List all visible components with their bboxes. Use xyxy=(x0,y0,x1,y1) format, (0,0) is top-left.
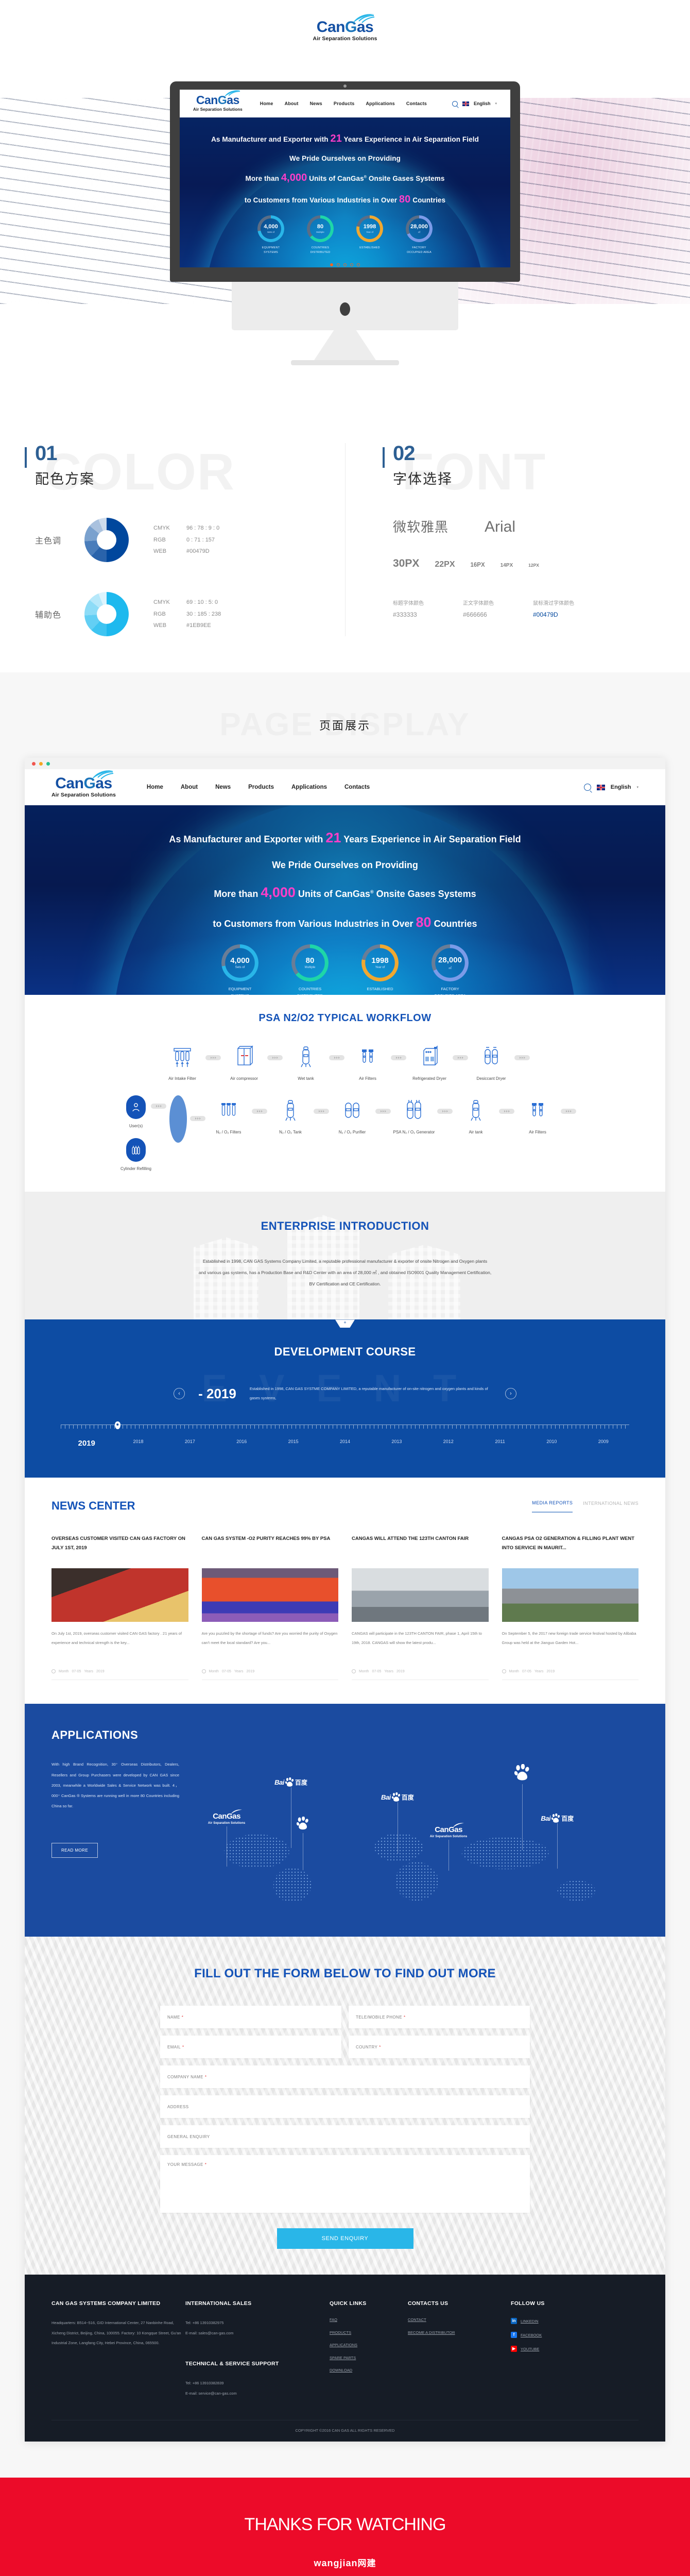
footer-intl-email: E-mail: sales@can-gas.com xyxy=(185,2328,330,2338)
workflow-node: Air Filters xyxy=(515,1095,560,1136)
clock-icon xyxy=(502,1669,506,1673)
font-size-14: 14PX xyxy=(501,563,513,568)
thanks-section: THANKS FOR WATCHING wangjian网建 xyxy=(0,2478,690,2576)
workflow-node: Air Intake Filter xyxy=(160,1042,204,1082)
cover-brand-logo: CanGas Air Separation Solutions xyxy=(0,20,690,43)
refrigerated-dryer-icon xyxy=(407,1042,452,1072)
copyright-text: COPYRIGHT ©2016 CAN GAS ALL RIGHTS RESER… xyxy=(51,2420,639,2442)
website-header: CanGas Air Separation Solutions Home Abo… xyxy=(25,769,665,805)
imac-monitor-mockup: CanGas Air Separation Solutions Home Abo xyxy=(170,81,520,365)
stat-established: 1998Year of ESTABLISHED xyxy=(355,944,405,995)
dotted-world-map xyxy=(195,1812,639,1906)
website-logo[interactable]: CanGas Air Separation Solutions xyxy=(51,776,116,799)
desiccant-dryer-icon xyxy=(469,1042,513,1072)
year-2016[interactable]: 2016 xyxy=(216,1439,267,1448)
site-footer: CAN GAS SYSTEMS COMPANY LIMITED Headquar… xyxy=(25,2275,665,2442)
year-2012[interactable]: 2012 xyxy=(423,1439,474,1448)
font-color-swatches: 标题字体颜色 #333333 正文字体颜色 #666666 鼠标滑过字体颜色 #… xyxy=(393,599,690,618)
development-title: DEVELOPMENT COURSE xyxy=(25,1345,665,1359)
font-size-12: 12PX xyxy=(528,563,539,568)
news-card-thumbnail xyxy=(51,1568,188,1622)
workflow-node: Air Filters xyxy=(346,1042,390,1082)
map-pin-cangas-2: CanGas Air Separation Solutions xyxy=(430,1825,467,1840)
social-label-linkedin[interactable]: LINKEDIN xyxy=(521,2319,539,2324)
paw-icon xyxy=(514,1764,530,1782)
stat-equipment-systems: 4,000Sets of EQUIPMENTSYSTEMS xyxy=(215,944,265,995)
font-samples: 微软雅黑 Arial xyxy=(393,517,690,536)
nav-item-products[interactable]: Products xyxy=(248,784,274,790)
year-2011[interactable]: 2011 xyxy=(474,1439,526,1448)
footer-company-title: CAN GAS SYSTEMS COMPANY LIMITED xyxy=(51,2300,185,2307)
font-spec-column: FONT 02 字体选择 微软雅黑 Arial 30PX 22PX 16PX 1… xyxy=(345,443,690,636)
map-pin-baidu-2: Bai 百度 xyxy=(381,1792,414,1802)
news-card-meta: Month 07-05 Years 2019 xyxy=(51,1669,188,1680)
expand-tab[interactable]: + xyxy=(335,1319,355,1328)
social-facebook[interactable]: f FACEBOOK xyxy=(511,2332,593,2338)
world-map-container: Bai 百度 xyxy=(195,1759,639,1909)
news-card-excerpt: CANGAS will participate in the 123TH CAN… xyxy=(352,1629,489,1656)
nav-item-home[interactable]: Home xyxy=(260,101,273,106)
cylinder-refilling-icon xyxy=(126,1138,146,1162)
flow-arrow xyxy=(190,1116,205,1121)
footer-sales-column: INTERNATIONAL SALES Tel: +86 13910382975… xyxy=(185,2300,330,2398)
year-2015[interactable]: 2015 xyxy=(267,1439,319,1448)
news-card[interactable]: OVERSEAS CUSTOMER VISITED CAN GAS FACTOR… xyxy=(51,1534,188,1680)
send-enquiry-button[interactable]: SEND ENQUIRY xyxy=(277,2228,413,2249)
flow-arrow xyxy=(375,1109,391,1114)
language-selector[interactable]: English xyxy=(611,784,631,790)
color-values-secondary: CMYK69 : 10 : 5: 0 RGB30 : 185 : 238 WEB… xyxy=(153,597,221,632)
form-title: FILL OUT THE FORM BELOW TO FIND OUT MORE xyxy=(25,1967,665,1981)
map-pin-baidu-3: Bai 百度 xyxy=(541,1814,574,1823)
news-title: NEWS CENTER xyxy=(51,1499,135,1513)
n2-o2-purifier-icon xyxy=(330,1095,374,1125)
minimize-traffic-light[interactable] xyxy=(39,762,43,766)
font-sample-en: Arial xyxy=(485,518,515,536)
footer-tech-email: E-mail: service@can-gas.com xyxy=(185,2388,330,2399)
flow-arrow xyxy=(561,1109,576,1114)
news-center-section: NEWS CENTER MEDIA REPORTS INTERNATIONAL … xyxy=(25,1478,665,1704)
enterprise-paragraph-1: Established in 1998, CAN GAS Systems Com… xyxy=(25,1256,665,1267)
color-row-primary: 主色调 CMYK96 : 78 : 9 : 0 RGB0 : 71 : 157 … xyxy=(35,518,345,562)
read-more-button[interactable]: READ MORE xyxy=(51,1843,98,1858)
year-2017[interactable]: 2017 xyxy=(164,1439,216,1448)
name-field[interactable]: NAME* xyxy=(160,2006,341,2028)
tab-international-news[interactable]: INTERNATIONAL NEWS xyxy=(583,1501,639,1512)
news-card-title: OVERSEAS CUSTOMER VISITED CAN GAS FACTOR… xyxy=(51,1534,188,1562)
news-card[interactable]: CANGAS PSA O2 GENERATION & FILLING PLANT… xyxy=(502,1534,639,1680)
psa-generator-icon xyxy=(392,1095,436,1125)
color-section-title: 配色方案 xyxy=(35,468,345,488)
thanks-text: THANKS FOR WATCHING xyxy=(0,2515,690,2535)
enterprise-introduction-section: ENTERPRISE INTRODUCTION Established in 1… xyxy=(25,1192,665,1319)
color-donut-primary xyxy=(84,518,129,562)
page-display-title: 页面展示 xyxy=(0,717,690,733)
n2-o2-filters-icon xyxy=(206,1095,251,1125)
news-card-excerpt: On July 1st, 2019, overseas customer vis… xyxy=(51,1629,188,1656)
hero-stats: 4,000Sets of EQUIPMENTSYSTEMS 80Multiple… xyxy=(180,215,510,255)
map-pin-baidu-paw-2 xyxy=(514,1764,530,1784)
clock-icon xyxy=(352,1669,356,1673)
font-color-title: 标题字体颜色 #333333 xyxy=(393,599,424,618)
footer-link-download[interactable]: DOWNLOAD xyxy=(330,2368,408,2372)
stat-item: 4,000Sets of EQUIPMENTSYSTEMS xyxy=(253,215,288,255)
footer-quicklinks-column: QUICK LINKS FAQ PRODUCTS APPLICATIONS SP… xyxy=(330,2300,408,2398)
color-values-primary: CMYK96 : 78 : 9 : 0 RGB0 : 71 : 157 WEB#… xyxy=(153,522,219,557)
stat-item: 1998Year of ESTABLISHED xyxy=(352,215,387,255)
map-pin-cangas-1: CanGas Air Separation Solutions xyxy=(208,1812,245,1826)
nav-item-applications[interactable]: Applications xyxy=(366,101,394,106)
workflow-cylinder-node: Cylinder Refilling xyxy=(114,1138,158,1172)
footer-tech-title: TECHNICAL & SERVICE SUPPORT xyxy=(185,2361,330,2367)
font-section-number: 02 xyxy=(393,443,690,464)
main-navigation: Home About News Products Applications Co… xyxy=(260,101,452,106)
clock-icon xyxy=(51,1669,56,1673)
chevron-down-icon[interactable]: ▾ xyxy=(636,785,639,789)
footer-link-products[interactable]: PRODUCTS xyxy=(330,2331,408,2335)
footer-quicklinks-title: QUICK LINKS xyxy=(330,2300,408,2307)
baidu-logo: Bai 百度 xyxy=(541,1814,574,1823)
language-label[interactable]: English xyxy=(474,101,491,106)
footer-follow-title: FOLLOW US xyxy=(511,2300,593,2307)
monitor-chin xyxy=(232,282,458,330)
applications-section: APPLICATIONS With high Brand Recognition… xyxy=(25,1704,665,1937)
social-label-facebook[interactable]: FACEBOOK xyxy=(521,2333,542,2337)
nav-item-applications[interactable]: Applications xyxy=(291,784,327,790)
footer-link-applications[interactable]: APPLICATIONS xyxy=(330,2343,408,2347)
flow-arrow xyxy=(205,1055,221,1060)
nav-item-about[interactable]: About xyxy=(181,784,198,790)
paw-icon xyxy=(285,1777,294,1787)
flow-arrow xyxy=(437,1109,453,1114)
stat-label: COUNTRIESDISTRIBUTED xyxy=(285,986,335,995)
carousel-dot-active[interactable] xyxy=(330,263,333,266)
air-filters-icon-2 xyxy=(515,1095,560,1125)
flow-arrow xyxy=(314,1109,329,1114)
cover-section: CanGas Air Separation Solutions CanGas xyxy=(0,0,690,412)
stat-label: FACTORYOCCUPIED AREA xyxy=(425,986,475,995)
stat-label: EQUIPMENTSYSTEMS xyxy=(215,986,265,995)
chevron-left-icon[interactable]: ‹ xyxy=(174,1388,185,1399)
workflow-node: N₂ / O₂ Purifier xyxy=(330,1095,374,1136)
workflow-node: N₂ / O₂ Tank xyxy=(268,1095,313,1136)
specs-section: COLOR 01 配色方案 主色调 CMYK96 : 78 : 9 : 0 RG… xyxy=(0,412,690,672)
workflow-section: PSA N2/O2 TYPICAL WORKFLOW Air Intake Fi… xyxy=(25,995,665,1192)
workflow-node: Air tank xyxy=(454,1095,498,1136)
hero-line-4: to Customers from Various Industries in … xyxy=(180,194,510,206)
n2-o2-tank-icon xyxy=(268,1095,313,1125)
font-size-22: 22PX xyxy=(435,560,455,569)
year-2013[interactable]: 2013 xyxy=(371,1439,422,1448)
news-card-meta: Month 07-05 Years 2019 xyxy=(202,1669,339,1680)
facebook-icon: f xyxy=(511,2332,517,2338)
enterprise-paragraph-2: and various gas systems, has a Productio… xyxy=(25,1267,665,1278)
news-card[interactable]: CAN GAS SYSTEM -O2 PURITY REACHES 99% BY… xyxy=(202,1534,339,1680)
workflow-node: N₂ / O₂ Filters xyxy=(206,1095,251,1136)
social-youtube[interactable]: ▶ YOUTUBE xyxy=(511,2346,593,2352)
tab-media-reports[interactable]: MEDIA REPORTS xyxy=(532,1500,573,1513)
cangas-logo-white: CanGas Air Separation Solutions xyxy=(208,1812,245,1825)
search-icon[interactable] xyxy=(584,784,591,791)
footer-company-column: CAN GAS SYSTEMS COMPANY LIMITED Headquar… xyxy=(51,2300,185,2398)
uk-flag-icon xyxy=(462,101,469,106)
hero-line-1: As Manufacturer and Exporter with 21 Yea… xyxy=(25,830,665,846)
footer-tech-tel: Tel: +86 13910382839 xyxy=(185,2378,330,2388)
header-logo[interactable]: CanGas Air Separation Solutions xyxy=(193,94,243,113)
color-donut-secondary xyxy=(84,592,129,636)
brand-name-can: Can xyxy=(317,19,345,36)
flow-arrow xyxy=(267,1055,283,1060)
hero-line-3: More than 4,000 Units of CanGas® Onsite … xyxy=(180,172,510,184)
flow-arrow xyxy=(514,1055,530,1060)
air-compressor-icon xyxy=(222,1042,266,1072)
nav-item-products[interactable]: Products xyxy=(334,101,355,106)
font-color-body: 正文字体颜色 #666666 xyxy=(463,599,494,618)
clock-icon xyxy=(202,1669,206,1673)
hero-line-4: to Customers from Various Industries in … xyxy=(25,914,665,930)
accent-bar xyxy=(25,447,27,468)
maximize-traffic-light[interactable] xyxy=(46,762,50,766)
workflow-node: Refrigerated Dryer xyxy=(407,1042,452,1082)
uk-flag-icon xyxy=(597,785,605,790)
wangjian-logo-cn: 网建 xyxy=(358,2558,376,2568)
enterprise-paragraph-3: BV Certification and CE Certification. xyxy=(25,1278,665,1290)
year-2009[interactable]: 2009 xyxy=(578,1439,629,1448)
footer-link-faq[interactable]: FAQ xyxy=(330,2318,408,2322)
search-icon[interactable] xyxy=(452,101,458,107)
air-intake-filter-icon xyxy=(160,1042,204,1072)
nav-item-contacts[interactable]: Contacts xyxy=(344,784,370,790)
webcam-dot xyxy=(343,84,347,88)
nav-item-about[interactable]: About xyxy=(285,101,299,106)
brand-name-as: as xyxy=(357,19,373,36)
footer-company-address: Headquarters: B514~516, GID Internationa… xyxy=(51,2318,185,2348)
phone-field[interactable]: TELE/MOBILE PHONE* xyxy=(349,2006,530,2028)
news-card-meta: Month 07-05 Years 2019 xyxy=(502,1669,639,1680)
news-card[interactable]: CANGAS WILL ATTEND THE 123TH CANTON FAIR… xyxy=(352,1534,489,1680)
news-card-title: CANGAS PSA O2 GENERATION & FILLING PLANT… xyxy=(502,1534,639,1562)
monitor-screen: CanGas Air Separation Solutions Home Abo xyxy=(180,90,510,267)
monitor-base xyxy=(291,360,399,365)
footer-intl-title: INTERNATIONAL SALES xyxy=(185,2300,330,2307)
enterprise-title: ENTERPRISE INTRODUCTION xyxy=(25,1219,665,1233)
news-card-excerpt: Are you puzzled by the shortage of funds… xyxy=(202,1629,339,1656)
monitor-neck xyxy=(314,330,376,360)
timeline-pin-icon xyxy=(115,1421,120,1429)
nav-item-contacts[interactable]: Contacts xyxy=(406,101,427,106)
map-pin-baidu-1: Bai 百度 xyxy=(274,1777,307,1787)
font-sample-cn: 微软雅黑 xyxy=(393,517,449,536)
footer-contacts-title: CONTACTS US xyxy=(408,2300,511,2307)
font-color-hover: 鼠标滑过字体颜色 #00479D xyxy=(533,599,574,618)
applications-title: APPLICATIONS xyxy=(51,1728,639,1742)
wangjian-logo: wangjian网建 xyxy=(0,2556,690,2569)
nav-item-news[interactable]: News xyxy=(310,101,322,106)
linkedin-icon: in xyxy=(511,2318,517,2324)
applications-description: With high Brand Recognition, 30⁺ Oversea… xyxy=(51,1759,179,1811)
company-name-field[interactable]: COMPANY NAME* xyxy=(160,2065,530,2088)
news-card-meta: Month 07-05 Years 2019 xyxy=(352,1669,489,1680)
color-spec-column: COLOR 01 配色方案 主色调 CMYK96 : 78 : 9 : 0 RG… xyxy=(0,443,345,636)
footer-link-contact[interactable]: CONTACT xyxy=(408,2318,511,2322)
workflow-node: Desiccant Dryer xyxy=(469,1042,513,1082)
enquiry-form-section: FILL OUT THE FORM BELOW TO FIND OUT MORE… xyxy=(25,1937,665,2275)
flow-arrow xyxy=(329,1055,344,1060)
map-pin-baidu-paw-1 xyxy=(297,1817,309,1833)
nav-item-home[interactable]: Home xyxy=(147,784,163,790)
general-enquiry-field[interactable]: GENERAL ENQUIRY xyxy=(160,2125,530,2148)
color-label: 辅助色 xyxy=(35,608,84,620)
paw-icon xyxy=(392,1792,401,1802)
stat-item: 80Multiple COUNTRIESDISTRIBUTED xyxy=(303,215,338,255)
footer-contacts-column: CONTACTS US CONTACT BECOME A DISTRIBUTOR xyxy=(408,2300,511,2398)
mockup-site-header: CanGas Air Separation Solutions Home Abo xyxy=(180,90,510,117)
development-course-section: + EVENT DEVELOPMENT COURSE ‹ - 2019 Esta… xyxy=(25,1319,665,1478)
footer-intl-tel: Tel: +86 13910382975 xyxy=(185,2318,330,2328)
brand-wordmark: CanGas xyxy=(317,20,373,35)
news-card-thumbnail xyxy=(202,1568,339,1622)
page-display-section: PAGE DISPLAY 页面展示 CanGas xyxy=(0,672,690,2478)
website-navigation: Home About News Products Applications Co… xyxy=(147,784,584,790)
baidu-logo: Bai 百度 xyxy=(274,1777,307,1787)
user-icon xyxy=(126,1095,146,1119)
flow-arrow xyxy=(391,1055,406,1060)
color-section-number: 01 xyxy=(35,443,345,464)
chevron-right-icon[interactable]: › xyxy=(505,1388,516,1399)
email-field[interactable]: EMAIL* xyxy=(160,2036,341,2058)
nav-item-news[interactable]: News xyxy=(215,784,231,790)
carousel-dots[interactable] xyxy=(180,263,510,266)
workflow-node: Air compressor xyxy=(222,1042,266,1082)
workflow-row-bottom: User(s) Cylinder Refilling xyxy=(25,1095,665,1172)
paw-icon xyxy=(297,1817,309,1831)
development-current-year: - 2019 xyxy=(198,1386,236,1402)
footer-link-spare-parts[interactable]: SPARE PARTS xyxy=(330,2356,408,2360)
font-size-scale: 30PX 22PX 16PX 14PX 12PX xyxy=(393,557,690,570)
website-hero-banner: As Manufacturer and Exporter with 21 Yea… xyxy=(25,805,665,995)
workflow-title: PSA N2/O2 TYPICAL WORKFLOW xyxy=(25,1012,665,1024)
browser-mockup: CanGas Air Separation Solutions Home Abo… xyxy=(25,758,665,2442)
workflow-node: PSA N₂ / O₂ Generator xyxy=(392,1095,436,1136)
news-card-thumbnail xyxy=(352,1568,489,1622)
brand-name-g: G xyxy=(345,19,357,36)
youtube-icon: ▶ xyxy=(511,2346,517,2352)
hero-banner: As Manufacturer and Exporter with 21 Yea… xyxy=(180,117,510,267)
hero-line-1: As Manufacturer and Exporter with 21 Yea… xyxy=(180,133,510,145)
brand-tagline: Air Separation Solutions xyxy=(313,36,377,42)
air-filters-icon xyxy=(346,1042,390,1072)
stat-label: ESTABLISHED xyxy=(355,986,405,993)
social-linkedin[interactable]: in LINKEDIN xyxy=(511,2318,593,2324)
year-2010[interactable]: 2010 xyxy=(526,1439,577,1448)
workflow-user-node: User(s) xyxy=(114,1095,158,1129)
address-field[interactable]: ADDRESS xyxy=(160,2095,530,2118)
font-size-16: 16PX xyxy=(471,562,485,568)
footer-follow-column: FOLLOW US in LINKEDIN f FACEBOOK ▶ YOUTU… xyxy=(511,2300,593,2398)
stat-item: 28,000㎡ FACTORYOCCUPIED AREA xyxy=(402,215,437,255)
hero-line-2: We Pride Ourselves on Providing xyxy=(25,860,665,871)
country-field[interactable]: COUNTRY* xyxy=(349,2036,530,2058)
browser-titlebar xyxy=(25,758,665,769)
close-traffic-light[interactable] xyxy=(32,762,36,766)
accent-bar xyxy=(383,447,385,468)
hero-line-2: We Pride Ourselves on Providing xyxy=(180,155,510,162)
flow-arrow xyxy=(151,1104,166,1109)
font-section-title: 字体选择 xyxy=(393,468,690,488)
flow-arrow xyxy=(252,1109,267,1114)
chevron-down-icon[interactable]: ▾ xyxy=(495,101,497,106)
news-card-title: CANGAS WILL ATTEND THE 123TH CANTON FAIR xyxy=(352,1534,489,1562)
font-size-30: 30PX xyxy=(393,557,419,570)
carousel-dot[interactable] xyxy=(350,263,353,266)
baidu-logo: Bai 百度 xyxy=(381,1792,414,1802)
message-field[interactable]: YOUR MESSAGE* xyxy=(160,2155,530,2213)
hero-statistics: 4,000Sets of EQUIPMENTSYSTEMS 80Multiple… xyxy=(25,944,665,995)
news-card-thumbnail xyxy=(502,1568,639,1622)
paw-icon xyxy=(551,1814,560,1823)
cangas-logo-white: CanGas Air Separation Solutions xyxy=(430,1825,467,1838)
color-label: 主色调 xyxy=(35,534,84,546)
color-row-secondary: 辅助色 CMYK69 : 10 : 5: 0 RGB30 : 185 : 238… xyxy=(35,592,345,636)
flow-arrow xyxy=(453,1055,468,1060)
wet-tank-icon xyxy=(284,1042,328,1072)
wangjian-logo-en: wangjian xyxy=(314,2558,357,2568)
timeline-years: 2019 2018 2017 2016 2015 2014 2013 2012 … xyxy=(61,1439,629,1448)
year-2018[interactable]: 2018 xyxy=(112,1439,164,1448)
workflow-row-top: Air Intake Filter Air compressor xyxy=(25,1042,665,1082)
footer-link-become-distributor[interactable]: BECOME A DISTRIBUTOR xyxy=(408,2331,511,2335)
social-label-youtube[interactable]: YOUTUBE xyxy=(521,2347,539,2351)
year-2019[interactable]: 2019 xyxy=(61,1439,112,1448)
carousel-dot[interactable] xyxy=(357,263,360,266)
stat-countries-distributed: 80Multiple COUNTRIESDISTRIBUTED xyxy=(285,944,335,995)
carousel-dot[interactable] xyxy=(343,263,347,266)
hero-line-3: More than 4,000 Units of CanGas® Onsite … xyxy=(25,885,665,901)
air-tank-icon xyxy=(454,1095,498,1125)
carousel-dot[interactable] xyxy=(337,263,340,266)
flow-arrow xyxy=(499,1109,514,1114)
stat-factory-area: 28,000㎡ FACTORYOCCUPIED AREA xyxy=(425,944,475,995)
news-card-excerpt: On September 5, the 2017 new foreign tra… xyxy=(502,1629,639,1656)
development-description: Established in 1998, CAN GAS SYSTME COMP… xyxy=(250,1384,492,1403)
distribution-ellipse xyxy=(169,1095,187,1143)
news-card-title: CAN GAS SYSTEM -O2 PURITY REACHES 99% BY… xyxy=(202,1534,339,1562)
timeline-ruler[interactable] xyxy=(61,1425,629,1433)
year-2014[interactable]: 2014 xyxy=(319,1439,371,1448)
workflow-node: Wet tank xyxy=(284,1042,328,1082)
